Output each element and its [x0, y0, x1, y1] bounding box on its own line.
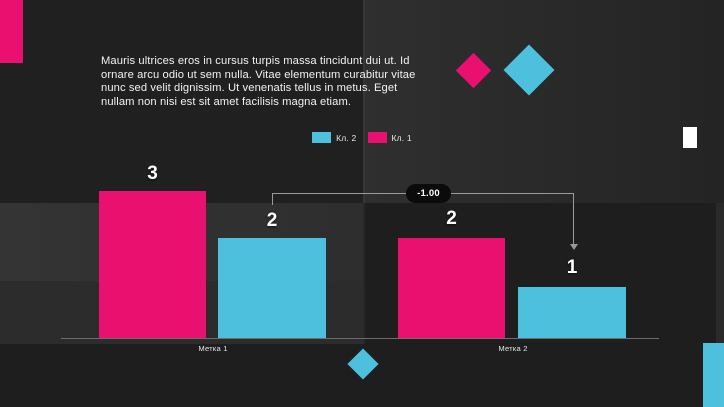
bar-class1-metka2[interactable] — [398, 238, 505, 338]
legend-swatch-icon — [312, 132, 331, 143]
category-label-metka1: Метка 1 — [143, 344, 283, 353]
legend-swatch-icon — [368, 132, 387, 143]
legend-item-class-1[interactable]: Кл. 1 — [368, 132, 412, 143]
body-paragraph: Mauris ultrices eros in cursus turpis ma… — [101, 55, 431, 109]
decor-block-cyan-bottom-right — [703, 343, 724, 407]
annotation-connector-horizontal — [272, 193, 574, 194]
slide-canvas: Mauris ultrices eros in cursus turpis ma… — [0, 0, 724, 407]
background-band-lower — [0, 203, 363, 344]
legend-label: Кл. 2 — [336, 133, 356, 143]
background-seam — [363, 0, 365, 344]
legend-label: Кл. 1 — [392, 133, 412, 143]
decor-block-magenta-top-left — [0, 0, 23, 63]
bar-value-label: 1 — [518, 257, 626, 279]
annotation-arrow-icon — [570, 244, 578, 250]
category-label-metka2: Метка 2 — [443, 344, 583, 353]
legend-item-class-2[interactable]: Кл. 2 — [312, 132, 356, 143]
bar-value-label: 3 — [99, 163, 206, 185]
bar-class2-metka2[interactable] — [518, 287, 626, 338]
annotation-badge[interactable]: -1.00 — [406, 184, 451, 203]
bar-class2-metka1[interactable] — [218, 238, 326, 338]
bar-value-label: 2 — [398, 208, 505, 230]
decor-diamond-magenta — [456, 53, 491, 88]
annotation-connector-start-tick — [272, 193, 273, 205]
bar-value-label: 2 — [218, 210, 326, 232]
chart-axis-line — [61, 338, 659, 339]
annotation-connector-vertical — [573, 193, 574, 245]
background-edge-right — [716, 203, 724, 344]
bar-class1-metka1[interactable] — [99, 191, 206, 338]
decor-diamond-cyan-top — [504, 45, 555, 96]
background-strip-middle — [0, 281, 363, 344]
decor-diamond-cyan-bottom — [347, 348, 378, 379]
chart-legend: Кл. 2 Кл. 1 — [0, 132, 724, 143]
